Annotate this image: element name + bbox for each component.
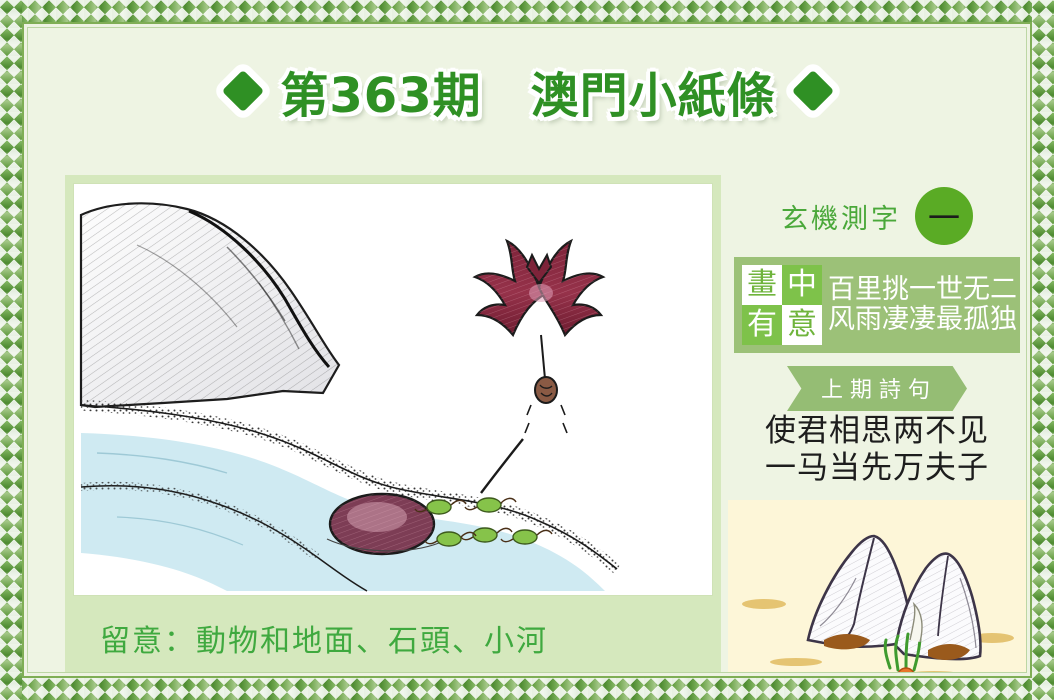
border-wave-left <box>0 0 22 700</box>
poem-line-1: 使君相思两不见 <box>728 413 1026 450</box>
illustration-card: 留意：動物和地面、石頭、小河 <box>65 175 721 673</box>
poem-line-2: 一马当先万夫子 <box>728 450 1026 487</box>
poster-root: 第363期 澳門小紙條 上期开奖结果：45 11 37 06 30 08 T23 <box>0 0 1054 700</box>
meaning-cell-2: 中 <box>782 265 822 305</box>
meaning-cell-1: 畫 <box>742 265 782 305</box>
meaning-box: 畫 中 有 意 百里挑一世无二 风雨凄凄最孤独 <box>734 257 1020 353</box>
verse-line-1: 百里挑一世无二 <box>828 275 1017 305</box>
banner-wrap: 上期詩句 <box>728 366 1026 411</box>
header: 第363期 澳門小紙條 <box>28 28 1027 150</box>
content-area: 第363期 澳門小紙條 上期开奖结果：45 11 37 06 30 08 T23 <box>27 27 1027 673</box>
illustration-caption: 留意：動物和地面、石頭、小河 <box>65 616 721 660</box>
verses: 百里挑一世无二 风雨凄凄最孤独 <box>822 275 1017 335</box>
meaning-grid: 畫 中 有 意 <box>742 265 822 345</box>
illustration-canvas <box>77 187 709 592</box>
verse-line-2: 风雨凄凄最孤独 <box>828 305 1017 335</box>
oracle-label: 玄機測字 <box>781 197 901 236</box>
oracle-row: 玄機測字 一 <box>728 175 1026 257</box>
oracle-value-badge: 一 <box>915 187 973 245</box>
page-title: 第363期 澳門小紙條 <box>280 56 775 126</box>
border-wave-right <box>1032 0 1054 700</box>
meaning-cell-4: 意 <box>782 305 822 345</box>
border-wave-bottom <box>0 678 1054 700</box>
meaning-cell-3: 有 <box>742 305 782 345</box>
rock-illustration-panel <box>728 500 1026 673</box>
river-landscape-bat-illustration <box>77 187 709 592</box>
two-rocks-with-grass-illustration <box>728 500 1026 673</box>
border-wave-top <box>0 0 1054 22</box>
diamond-icon <box>222 70 264 112</box>
right-column: 玄機測字 一 畫 中 有 意 百里挑一世无二 风雨凄凄最孤独 上期詩句 <box>728 175 1026 673</box>
diamond-icon <box>791 70 833 112</box>
title-row: 第363期 澳門小紙條 <box>28 28 1027 126</box>
previous-poem: 使君相思两不见 一马当先万夫子 <box>728 413 1026 487</box>
illustration-frame <box>74 184 712 595</box>
previous-poem-banner: 上期詩句 <box>787 366 967 411</box>
